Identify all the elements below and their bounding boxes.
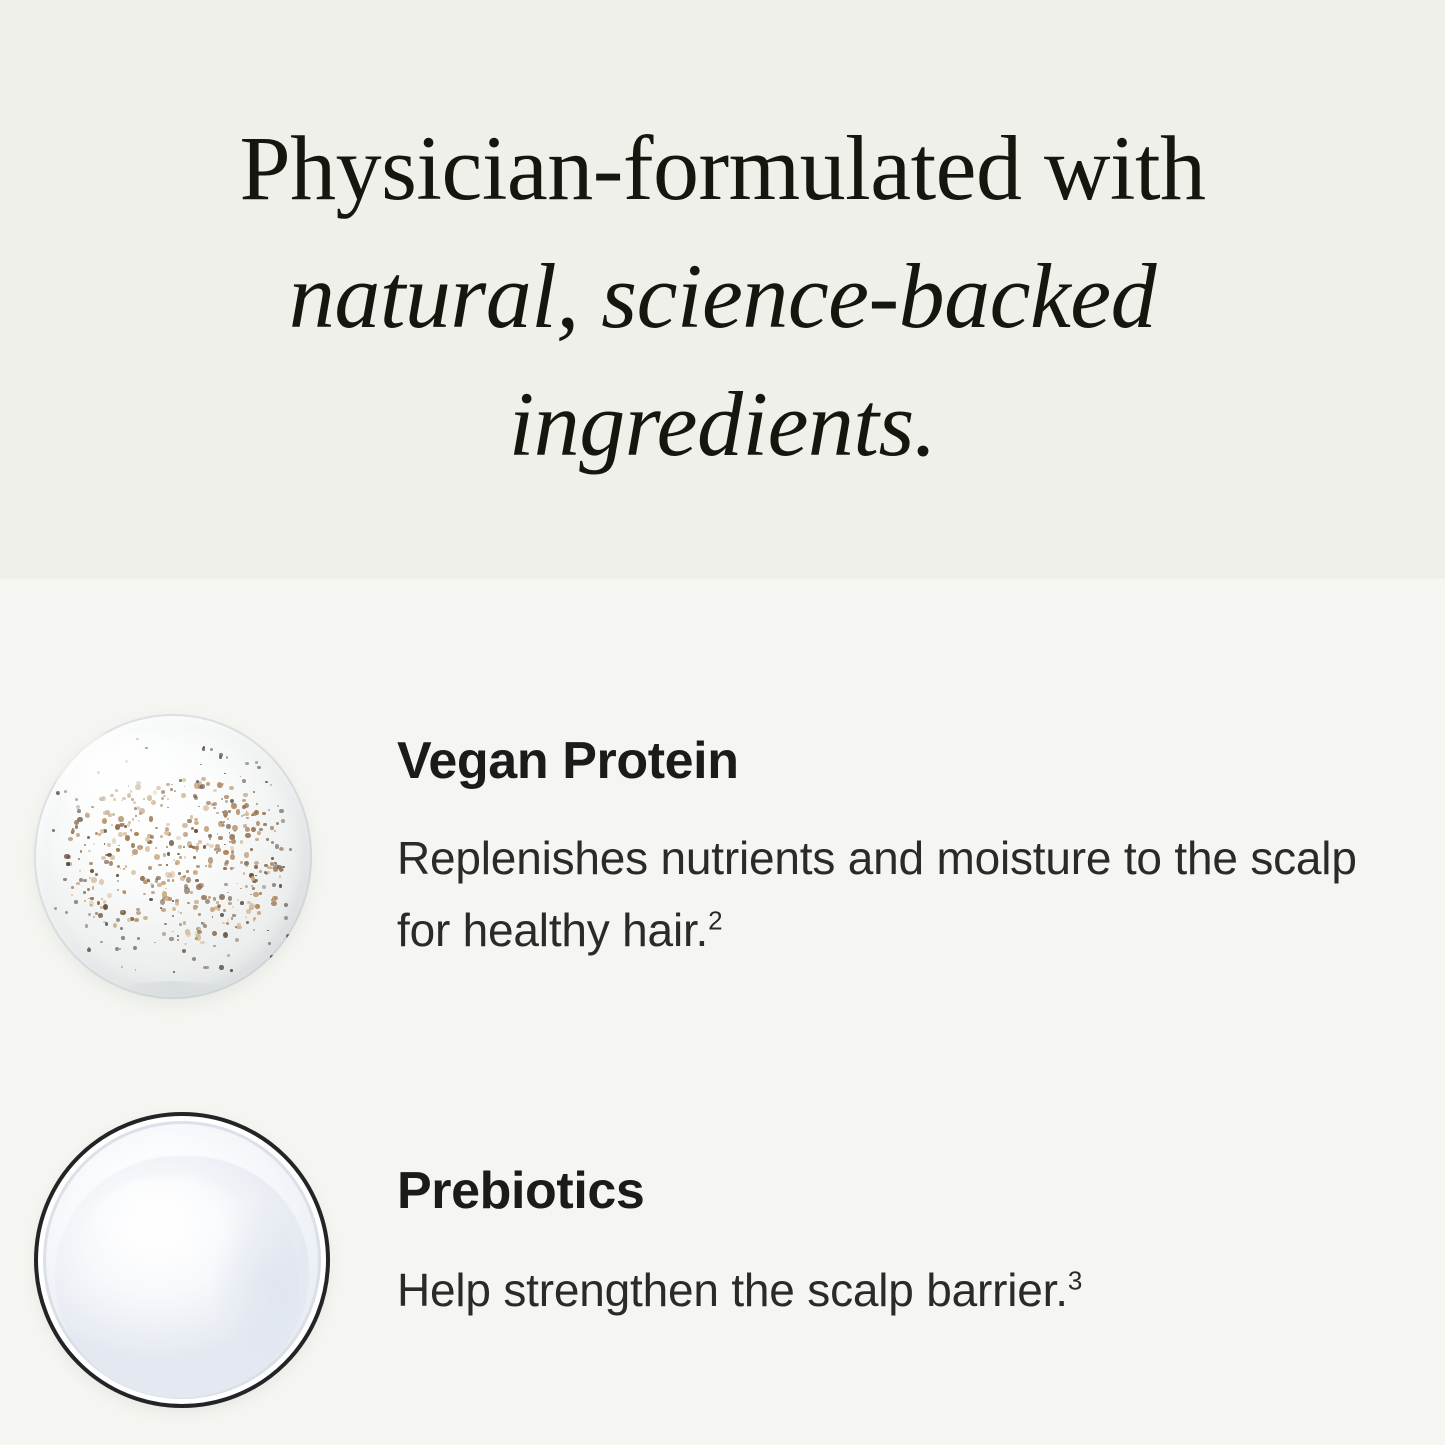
heading-line-3: ingredients. — [0, 360, 1445, 488]
background-seam — [0, 578, 1445, 584]
ingredient-title: Vegan Protein — [397, 700, 1397, 790]
prebiotics-image — [34, 1100, 330, 1396]
footnote-marker: 2 — [708, 906, 722, 936]
vegan-protein-image — [34, 700, 312, 985]
footnote-marker: 3 — [1068, 1266, 1082, 1296]
ingredient-description: Replenishes nutrients and moisture to th… — [397, 790, 1397, 966]
ingredient-highlights-panel: Physician-formulated with natural, scien… — [0, 0, 1445, 1445]
ingredient-text-block: Prebiotics Help strengthen the scalp bar… — [397, 1100, 1397, 1326]
ingredient-title: Prebiotics — [397, 1100, 1397, 1220]
petri-dish-glass — [34, 714, 312, 999]
ingredient-description-text: Help strengthen the scalp barrier. — [397, 1264, 1068, 1316]
ingredient-description: Help strengthen the scalp barrier.3 — [397, 1220, 1397, 1326]
dish-base-shadow — [117, 981, 228, 999]
section-heading: Physician-formulated with natural, scien… — [0, 104, 1445, 488]
heading-line-2: natural, science-backed — [0, 232, 1445, 360]
ingredient-description-text: Replenishes nutrients and moisture to th… — [397, 832, 1357, 956]
heading-line-1: Physician-formulated with — [0, 104, 1445, 232]
powder-dish — [34, 1112, 330, 1408]
ingredient-text-block: Vegan Protein Replenishes nutrients and … — [397, 700, 1397, 966]
white-powder-mound — [55, 1156, 308, 1398]
